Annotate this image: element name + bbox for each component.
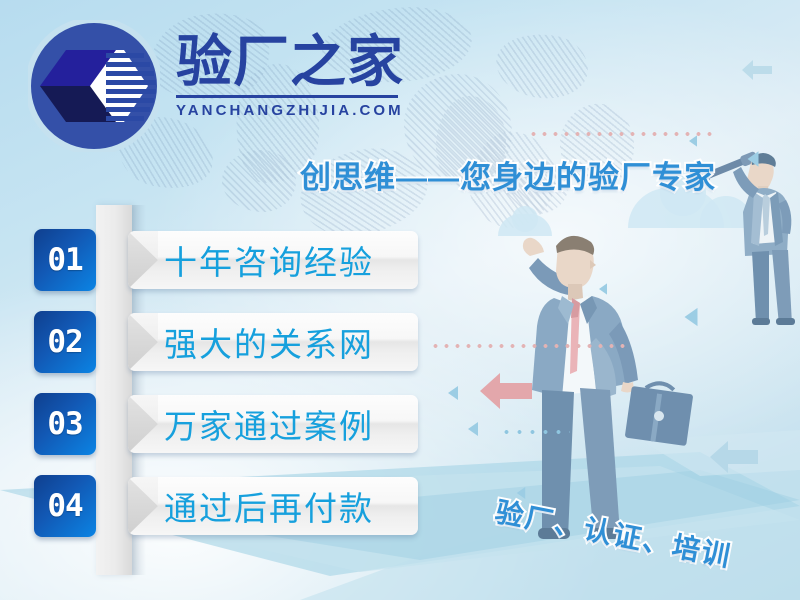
feature-number: 03 — [47, 406, 82, 442]
triangle-marker-icon — [599, 283, 607, 294]
arrow-left-blue-small-icon — [742, 58, 772, 82]
brand-logo[interactable]: 验厂之家 YANCHANGZHIJIA.COM — [24, 16, 404, 146]
brand-url: YANCHANGZHIJIA.COM — [176, 102, 416, 119]
feature-number: 01 — [47, 242, 82, 278]
feature-ribbon[interactable]: 十年咨询经验 — [128, 231, 418, 289]
brand-name: 验厂之家 — [176, 34, 416, 90]
feature-row[interactable]: 04 通过后再付款 — [0, 475, 440, 537]
arrow-left-blue-icon — [710, 438, 758, 476]
feature-ribbon[interactable]: 万家通过案例 — [128, 395, 418, 453]
brand-divider — [176, 95, 398, 98]
feature-number: 02 — [47, 324, 82, 360]
feature-number-badge: 04 — [34, 475, 96, 537]
feature-row[interactable]: 03 万家通过案例 — [0, 393, 440, 455]
feature-label: 万家通过案例 — [164, 395, 410, 453]
feature-number-badge: 03 — [34, 393, 96, 455]
feature-label: 十年咨询经验 — [164, 231, 410, 289]
triangle-marker-icon — [448, 386, 458, 400]
feature-ribbon[interactable]: 通过后再付款 — [128, 477, 418, 535]
poster-canvas: 验厂之家 YANCHANGZHIJIA.COM 创思维——您身边的验厂专家 01… — [0, 0, 800, 600]
feature-number-badge: 01 — [34, 229, 96, 291]
feature-number: 04 — [47, 488, 82, 524]
feature-row[interactable]: 02 强大的关系网 — [0, 311, 440, 373]
dotted-line-blue — [500, 430, 570, 434]
feature-label: 强大的关系网 — [164, 313, 410, 371]
feature-ribbon[interactable]: 强大的关系网 — [128, 313, 418, 371]
dotted-line-pink — [430, 344, 630, 348]
triangle-marker-icon — [748, 151, 759, 166]
arrow-left-pink-icon — [480, 370, 532, 412]
feature-number-badge: 02 — [34, 311, 96, 373]
dotted-line-pink — [528, 132, 716, 136]
feature-row[interactable]: 01 十年咨询经验 — [0, 229, 440, 291]
triangle-marker-icon — [685, 308, 698, 326]
tagline: 创思维——您身边的验厂专家 — [300, 152, 716, 197]
triangle-marker-icon — [689, 135, 697, 146]
hexagon-cube-logo-icon — [28, 20, 160, 152]
feature-label: 通过后再付款 — [164, 477, 410, 535]
triangle-marker-icon — [468, 422, 478, 436]
